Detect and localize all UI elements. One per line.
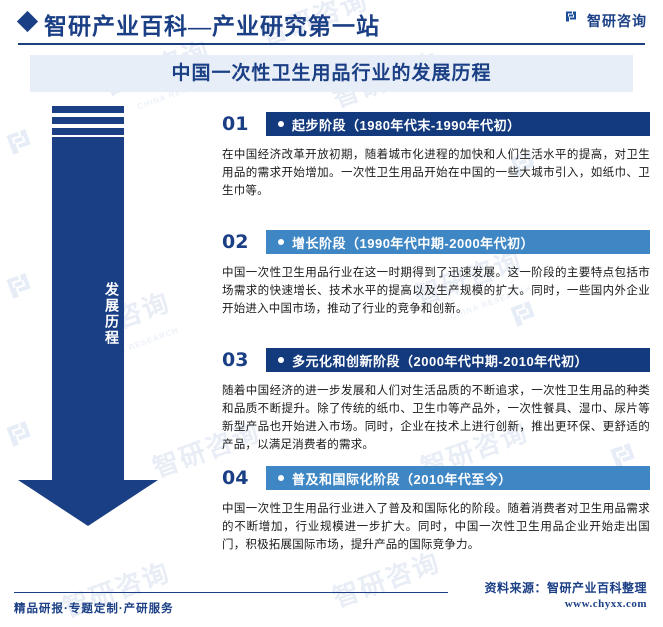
section-item: 02 增长阶段（1990年代中期-2000年代初） 中国一次性卫生用品行业在这一… — [222, 230, 650, 318]
section-body: 中国一次性卫生用品行业在这一时期得到了迅速发展。这一阶段的主要特点包括市场需求的… — [222, 264, 650, 318]
section-title-bar[interactable]: 起步阶段（1980年代末-1990年代初） — [266, 112, 650, 136]
section-header: 03 多元化和创新阶段（2000年代中期-2010年代初） — [222, 348, 650, 372]
page-footer: 精品研报·专题定制·产研服务 资料来源：智研产业百科整理 www.chyxx.c… — [0, 575, 663, 627]
section-header: 01 起步阶段（1980年代末-1990年代初） — [222, 112, 650, 136]
section-header: 02 增长阶段（1990年代中期-2000年代初） — [222, 230, 650, 254]
infographic-page: 智研咨询 CHINA RESEARCH 智研咨询 智研咨询 CHINA RESE… — [0, 0, 663, 627]
section-title-bar[interactable]: 多元化和创新阶段（2000年代中期-2010年代初） — [266, 348, 650, 372]
section-header: 04 普及和国际化阶段（2010年代至今） — [222, 466, 650, 490]
source-note: 资料来源：智研产业百科整理 — [484, 579, 647, 596]
bullet-dot-icon — [278, 357, 284, 363]
section-title: 多元化和创新阶段（2000年代中期-2010年代初） — [292, 351, 588, 370]
section-number: 02 — [222, 230, 248, 254]
section-title: 起步阶段（1980年代末-1990年代初） — [292, 115, 521, 134]
section-title-bar[interactable]: 增长阶段（1990年代中期-2000年代初） — [266, 230, 650, 254]
section-title-bar[interactable]: 普及和国际化阶段（2010年代至今） — [266, 466, 650, 490]
section-item: 04 普及和国际化阶段（2010年代至今） 中国一次性卫生用品行业进入了普及和国… — [222, 466, 650, 554]
section-body: 随着中国经济的进一步发展和人们对生活品质的不断追求，一次性卫生用品的种类和品质不… — [222, 382, 650, 454]
section-title: 普及和国际化阶段（2010年代至今） — [292, 469, 512, 488]
bullet-dot-icon — [278, 239, 284, 245]
section-body: 中国一次性卫生用品行业进入了普及和国际化的阶段。随着消费者对卫生用品需求的不断增… — [222, 500, 650, 554]
section-number: 03 — [222, 348, 248, 372]
footer-services-text: 精品研报·专题定制·产研服务 — [14, 600, 174, 616]
section-item: 03 多元化和创新阶段（2000年代中期-2010年代初） 随着中国经济的进一步… — [222, 348, 650, 454]
sections-list: 01 起步阶段（1980年代末-1990年代初） 在中国经济改革开放初期，随着城… — [0, 0, 663, 627]
footer-url[interactable]: www.chyxx.com — [565, 598, 647, 610]
footer-divider — [14, 592, 448, 593]
section-title: 增长阶段（1990年代中期-2000年代初） — [292, 233, 534, 252]
section-item: 01 起步阶段（1980年代末-1990年代初） 在中国经济改革开放初期，随着城… — [222, 112, 650, 200]
bullet-dot-icon — [278, 121, 284, 127]
bullet-dot-icon — [278, 475, 284, 481]
section-number: 04 — [222, 466, 248, 490]
section-body: 在中国经济改革开放初期，随着城市化进程的加快和人们生活水平的提高，对卫生用品的需… — [222, 146, 650, 200]
section-number: 01 — [222, 112, 248, 136]
